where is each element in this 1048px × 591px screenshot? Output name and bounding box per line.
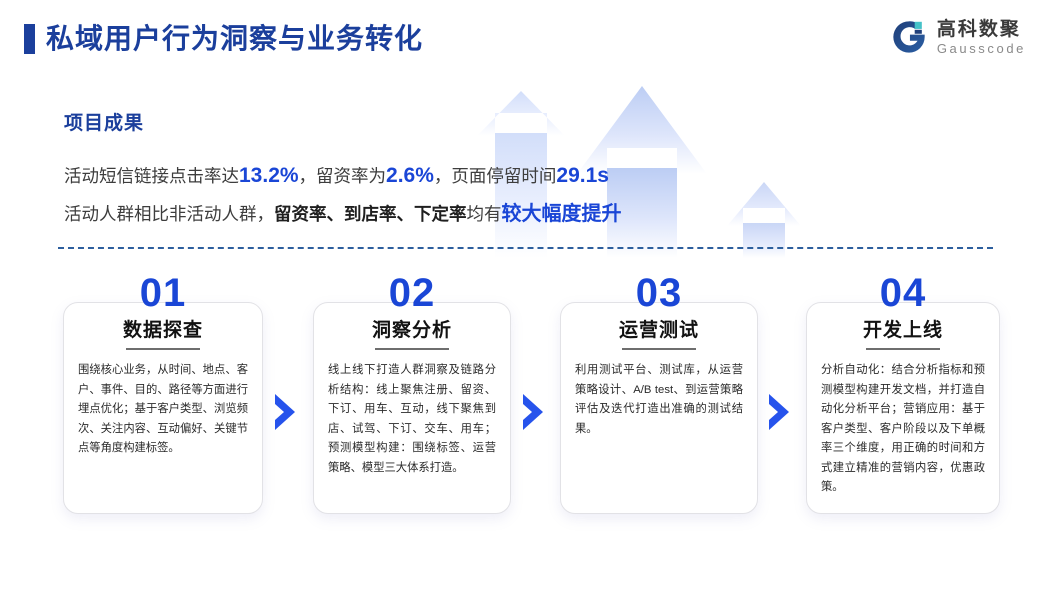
result-line-comparison: 活动人群相比非活动人群，留资率、到店率、下定率均有较大幅度提升 xyxy=(64,195,884,233)
step-title-rule-02 xyxy=(375,348,449,350)
step-card-box-03: 运营测试 利用测试平台、测试库，从运营策略设计、A/B test、到运营策略评估… xyxy=(560,302,758,514)
step-card-box-04: 开发上线 分析自动化：结合分析指标和预测模型构建开发文档，并打造自动化分析平台；… xyxy=(806,302,1000,514)
step-title-rule-03 xyxy=(622,348,696,350)
step-card-02[interactable]: 02 洞察分析 线上线下打造人群洞察及链路分析结构：线上聚焦注册、留资、下订、用… xyxy=(313,272,511,522)
logo-name-cn: 高科数聚 xyxy=(937,20,1026,39)
results-heading: 项目成果 xyxy=(64,108,884,135)
step-card-03[interactable]: 03 运营测试 利用测试平台、测试库，从运营策略设计、A/B test、到运营策… xyxy=(560,272,758,522)
result-seg-1: 活动短信链接点击率达 xyxy=(64,166,239,186)
step-title-03: 运营测试 xyxy=(561,315,757,342)
logo-text-block: 高科数聚 Gausscode xyxy=(937,20,1026,55)
comparison-seg-2: 均有 xyxy=(467,204,502,224)
result-seg-2: ，留资率为 xyxy=(299,166,387,186)
process-steps-row: 01 数据探查 围绕核心业务，从时间、地点、客户、事件、目的、路径等方面进行埋点… xyxy=(0,272,1048,532)
step-body-01: 围绕核心业务，从时间、地点、客户、事件、目的、路径等方面进行埋点优化；基于客户类… xyxy=(78,361,248,459)
step-number-04: 04 xyxy=(806,272,1000,314)
step-card-01[interactable]: 01 数据探查 围绕核心业务，从时间、地点、客户、事件、目的、路径等方面进行埋点… xyxy=(63,272,263,522)
metric-click-rate: 13.2% xyxy=(239,164,299,187)
step-number-02: 02 xyxy=(313,272,511,314)
step-body-02: 线上线下打造人群洞察及链路分析结构：线上聚焦注册、留资、下订、用车、互动，线下聚… xyxy=(328,361,496,478)
logo-name-en: Gausscode xyxy=(937,42,1026,55)
chevron-right-icon-2 xyxy=(520,392,546,432)
step-body-04: 分析自动化：结合分析指标和预测模型构建开发文档，并打造自动化分析平台；营销应用：… xyxy=(821,361,985,498)
slide-header: 私域用户行为洞察与业务转化 高科数聚 Gausscode xyxy=(0,0,1048,78)
chevron-right-icon-3 xyxy=(766,392,792,432)
step-title-04: 开发上线 xyxy=(807,315,999,342)
company-logo: 高科数聚 Gausscode xyxy=(890,18,1026,56)
step-body-03: 利用测试平台、测试库，从运营策略设计、A/B test、到运营策略评估及迭代打造… xyxy=(575,361,743,439)
step-title-rule-04 xyxy=(866,348,940,350)
gausscode-g-logo-icon xyxy=(890,18,928,56)
comparison-conclusion: 较大幅度提升 xyxy=(502,203,622,225)
section-divider xyxy=(58,247,993,249)
metric-dwell-time: 29.1s xyxy=(556,164,609,187)
step-number-01: 01 xyxy=(63,272,263,314)
project-results-block: 项目成果 活动短信链接点击率达13.2%，留资率为2.6%，页面停留时间29.1… xyxy=(64,108,884,233)
result-line-metrics: 活动短信链接点击率达13.2%，留资率为2.6%，页面停留时间29.1s xyxy=(64,157,884,195)
result-seg-3: ，页面停留时间 xyxy=(434,166,557,186)
step-card-box-02: 洞察分析 线上线下打造人群洞察及链路分析结构：线上聚焦注册、留资、下订、用车、互… xyxy=(313,302,511,514)
comparison-metrics-list: 留资率、到店率、下定率 xyxy=(274,204,467,224)
step-number-03: 03 xyxy=(560,272,758,314)
slide-canvas: 私域用户行为洞察与业务转化 高科数聚 Gausscode 项目成果 xyxy=(0,0,1048,591)
step-title-01: 数据探查 xyxy=(64,315,262,342)
page-title: 私域用户行为洞察与业务转化 xyxy=(46,19,423,59)
step-title-rule-01 xyxy=(126,348,200,350)
title-accent-bar xyxy=(24,24,35,54)
chevron-right-icon-1 xyxy=(272,392,298,432)
step-card-04[interactable]: 04 开发上线 分析自动化：结合分析指标和预测模型构建开发文档，并打造自动化分析… xyxy=(806,272,1000,522)
metric-lead-rate: 2.6% xyxy=(386,164,434,187)
step-title-02: 洞察分析 xyxy=(314,315,510,342)
comparison-seg-1: 活动人群相比非活动人群， xyxy=(64,204,274,224)
step-card-box-01: 数据探查 围绕核心业务，从时间、地点、客户、事件、目的、路径等方面进行埋点优化；… xyxy=(63,302,263,514)
